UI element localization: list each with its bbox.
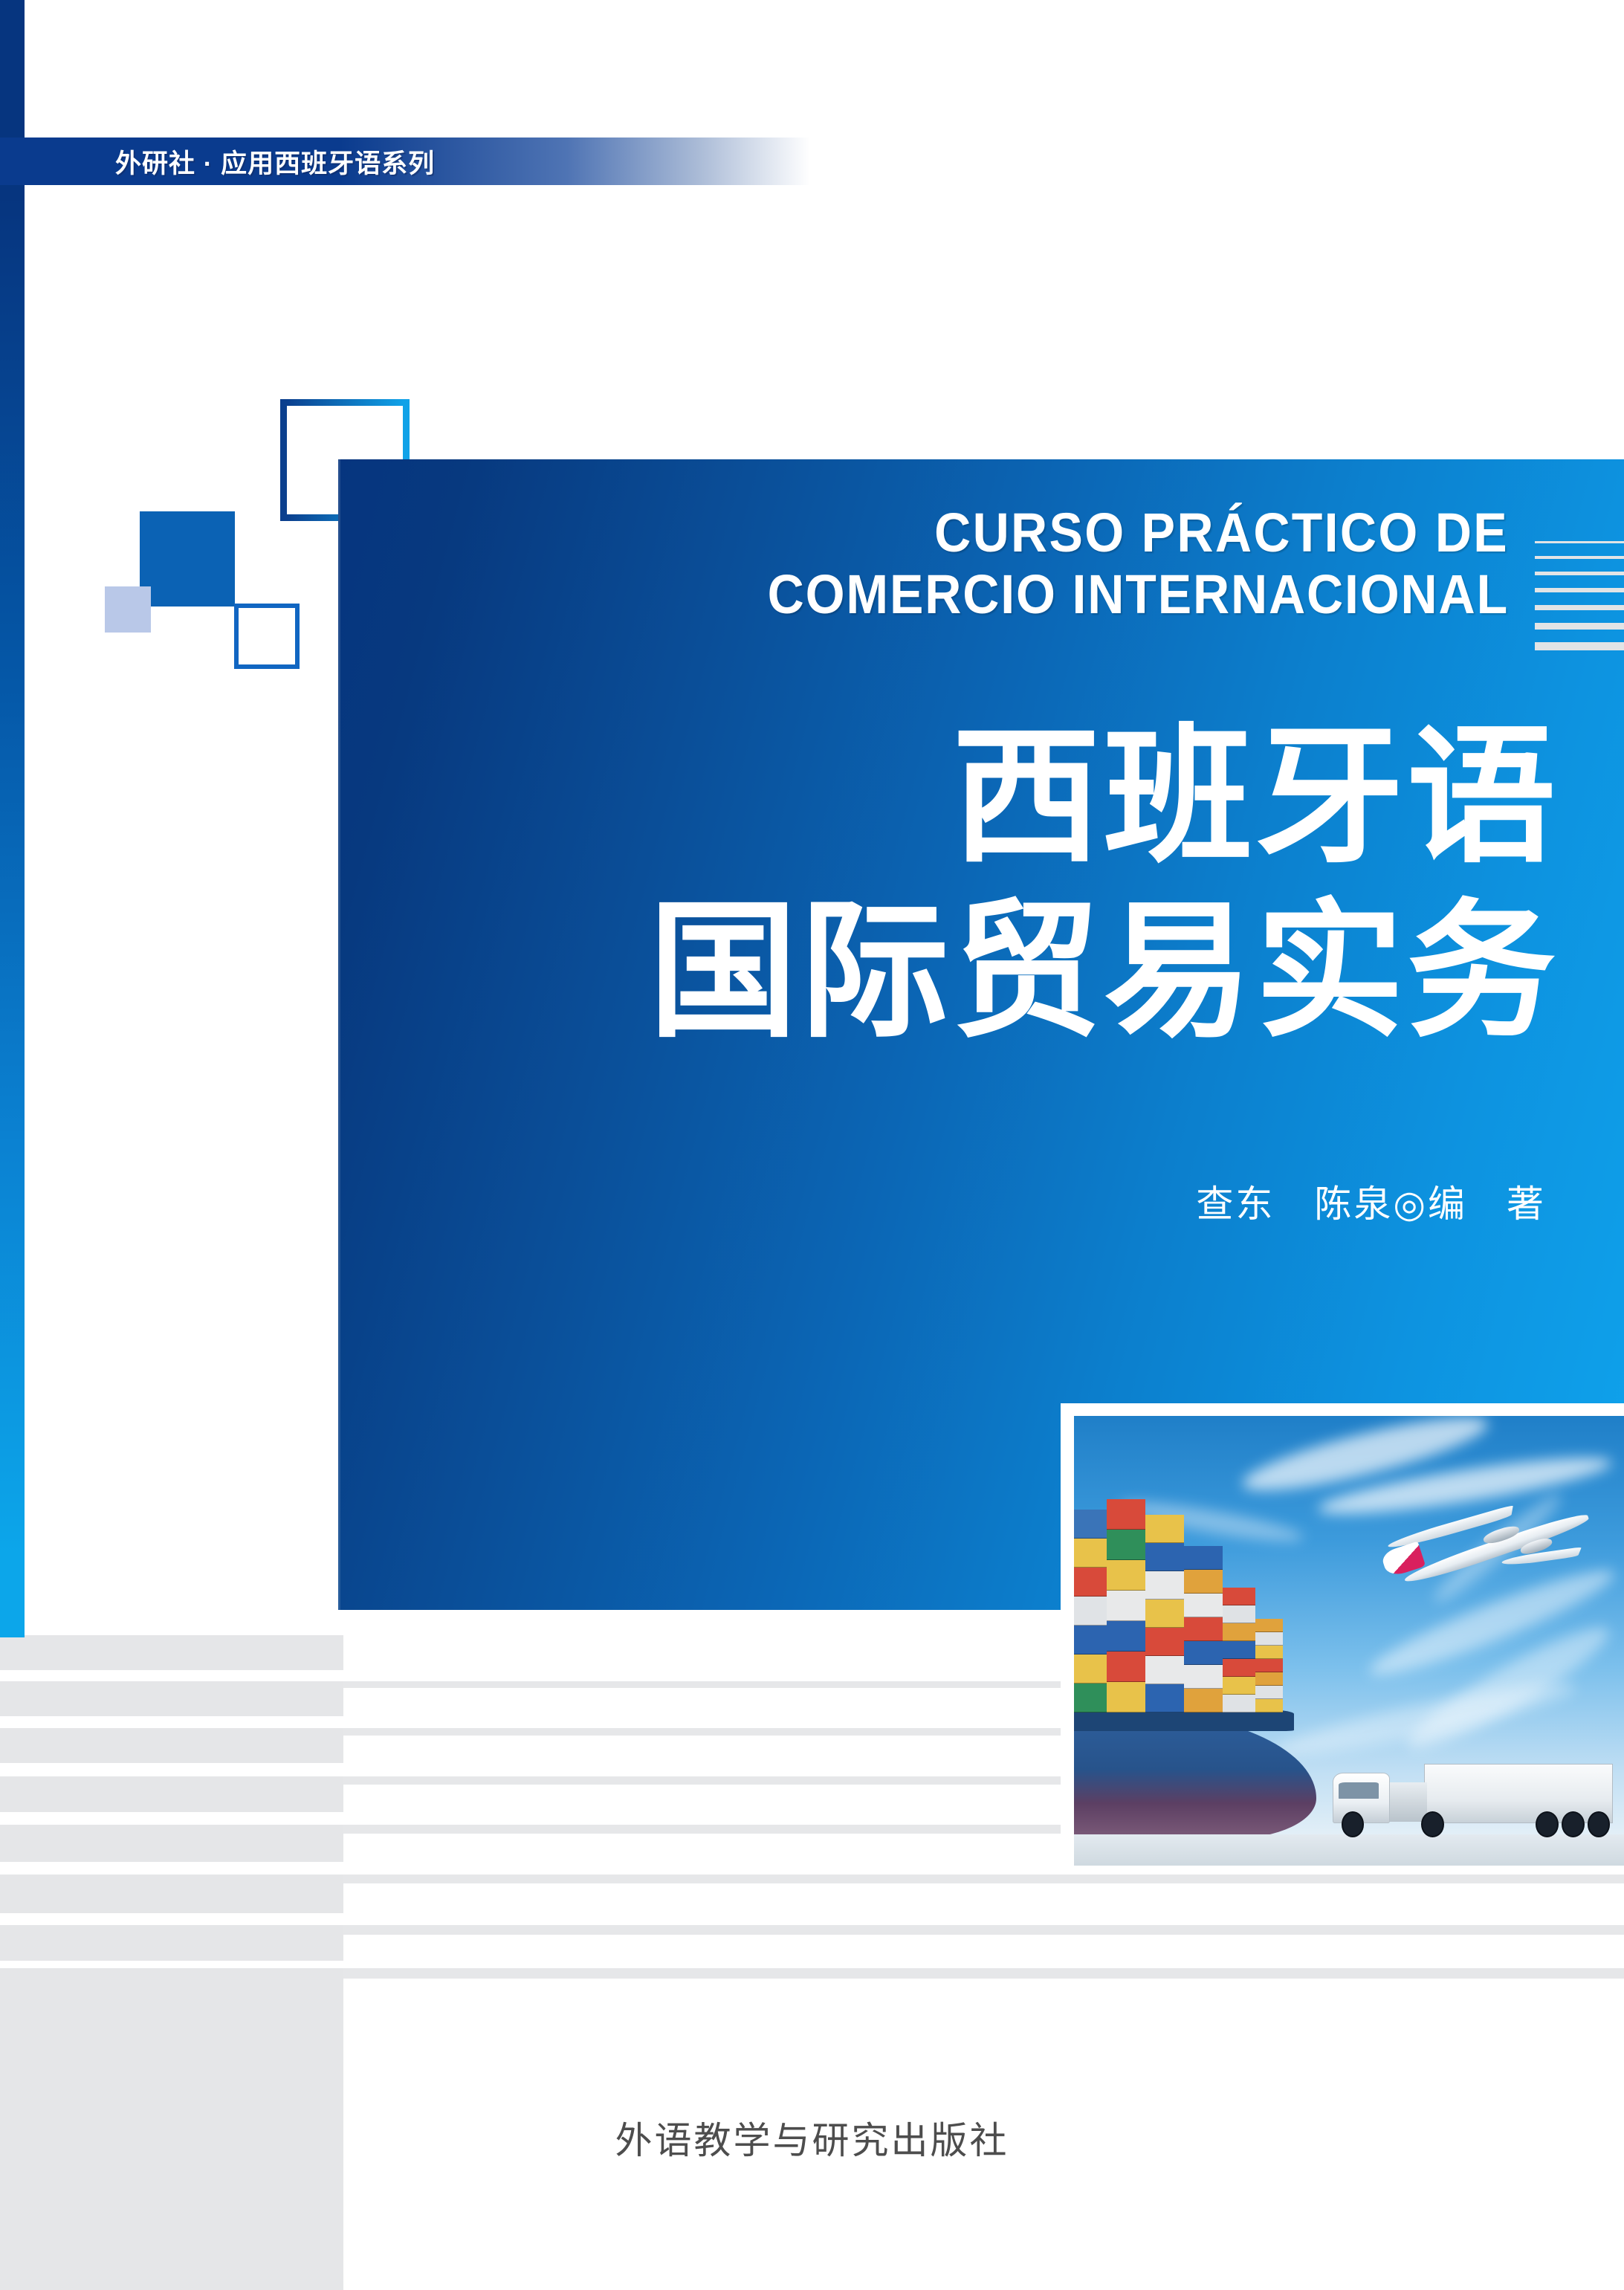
chinese-title-line1: 西班牙语 <box>369 723 1559 872</box>
bottom-bar <box>0 1728 343 1763</box>
shipping-container <box>1074 1655 1107 1683</box>
author-byline: 查东 陈泉◎编 著 <box>654 1174 1546 1228</box>
bottom-rule <box>343 1875 1624 1883</box>
shipping-container <box>1223 1695 1255 1712</box>
edge-rule <box>1535 605 1624 610</box>
bottom-bar <box>0 1825 343 1862</box>
container-stack <box>1184 1546 1223 1712</box>
shipping-container <box>1223 1677 1255 1695</box>
shipping-container <box>1107 1591 1145 1621</box>
edge-rule <box>1535 623 1624 630</box>
container-stack <box>1074 1510 1107 1712</box>
truck-midsection <box>1387 1782 1427 1822</box>
bottom-bar <box>0 1925 343 1961</box>
decorative-square-outline-small <box>234 604 300 669</box>
bottom-rule <box>343 1968 1624 1979</box>
shipping-container <box>1145 1571 1184 1600</box>
shipping-container <box>1255 1619 1283 1632</box>
spanish-title-line1: CURSO PRÁCTICO DE <box>483 502 1509 564</box>
container-stack <box>1255 1619 1283 1712</box>
bottom-rule <box>343 1925 1624 1935</box>
series-label: 外研社 · 应用西班牙语系列 <box>115 143 435 181</box>
shipping-container <box>1074 1626 1107 1655</box>
shipping-container <box>1184 1665 1223 1689</box>
shipping-container <box>1255 1686 1283 1699</box>
shipping-container <box>1255 1699 1283 1712</box>
truck-wheel <box>1562 1811 1585 1837</box>
shipping-container <box>1145 1656 1184 1684</box>
cover-photo <box>1074 1416 1624 1866</box>
container-stack <box>1107 1499 1145 1712</box>
shipping-container <box>1184 1594 1223 1617</box>
shipping-container <box>1107 1652 1145 1682</box>
shipping-container <box>1074 1568 1107 1597</box>
shipping-container <box>1255 1632 1283 1646</box>
chinese-title-line2: 国际贸易实务 <box>369 898 1559 1047</box>
series-banner: 外研社 · 应用西班牙语系列 <box>0 138 810 185</box>
shipping-container <box>1074 1539 1107 1568</box>
bottom-bar <box>0 1776 343 1812</box>
shipping-container <box>1255 1672 1283 1686</box>
publisher-name: 外语教学与研究出版社 <box>0 2111 1624 2164</box>
shipping-container <box>1145 1543 1184 1571</box>
shipping-container <box>1074 1597 1107 1626</box>
truck-wheel <box>1536 1811 1559 1837</box>
shipping-container <box>1255 1659 1283 1672</box>
spanish-title-line2: COMERCIO INTERNACIONAL <box>483 564 1509 626</box>
decorative-square-pale-blue <box>105 586 151 633</box>
shipping-container <box>1223 1623 1255 1641</box>
truck-wheel <box>1342 1811 1365 1837</box>
shipping-container <box>1223 1659 1255 1677</box>
cover-photo-frame <box>1061 1403 1624 1866</box>
shipping-container <box>1184 1617 1223 1641</box>
shipping-container <box>1184 1689 1223 1712</box>
truck-trailer <box>1424 1764 1613 1823</box>
shipping-container <box>1145 1515 1184 1543</box>
shipping-container <box>1107 1560 1145 1591</box>
bottom-bar <box>0 1875 343 1913</box>
shipping-container <box>1184 1641 1223 1665</box>
shipping-container <box>1145 1628 1184 1656</box>
edge-rule <box>1535 541 1624 543</box>
container-stack <box>1223 1588 1255 1712</box>
shipping-container <box>1184 1570 1223 1594</box>
shipping-container <box>1107 1499 1145 1530</box>
container-ship-hull <box>1074 1712 1316 1838</box>
edge-rule-lines <box>1535 541 1624 663</box>
spanish-title: CURSO PRÁCTICO DE COMERCIO INTERNACIONAL <box>483 502 1509 626</box>
truck-wheel <box>1421 1811 1444 1837</box>
shipping-container <box>1223 1605 1255 1623</box>
cloud-wisp <box>1272 1672 1580 1767</box>
shipping-container <box>1223 1641 1255 1659</box>
shipping-container <box>1255 1646 1283 1659</box>
shipping-container <box>1145 1600 1184 1628</box>
shipping-container <box>1145 1684 1184 1712</box>
bottom-bar <box>0 1635 343 1670</box>
decorative-square-solid-blue <box>140 511 235 607</box>
delivery-truck <box>1327 1762 1613 1839</box>
cargo-airplane <box>1376 1501 1608 1600</box>
edge-rule <box>1535 642 1624 650</box>
left-accent-stripe <box>0 0 25 1637</box>
shipping-container <box>1107 1682 1145 1712</box>
shipping-container <box>1184 1546 1223 1570</box>
shipping-container <box>1074 1510 1107 1539</box>
book-cover: 外研社 · 应用西班牙语系列 CURSO PRÁCTICO DE COMERCI… <box>0 0 1624 2290</box>
edge-rule <box>1535 572 1624 575</box>
shipping-container <box>1074 1683 1107 1712</box>
shipping-container <box>1107 1621 1145 1652</box>
shipping-container <box>1107 1530 1145 1560</box>
container-stack <box>1145 1515 1184 1712</box>
edge-rule <box>1535 588 1624 592</box>
edge-rule <box>1535 556 1624 559</box>
truck-window <box>1339 1782 1379 1799</box>
shipping-container <box>1223 1588 1255 1605</box>
photo-ground <box>1074 1834 1624 1866</box>
bottom-bar <box>0 1681 343 1716</box>
panel-left-edge <box>338 459 340 1610</box>
truck-wheel <box>1588 1811 1611 1837</box>
